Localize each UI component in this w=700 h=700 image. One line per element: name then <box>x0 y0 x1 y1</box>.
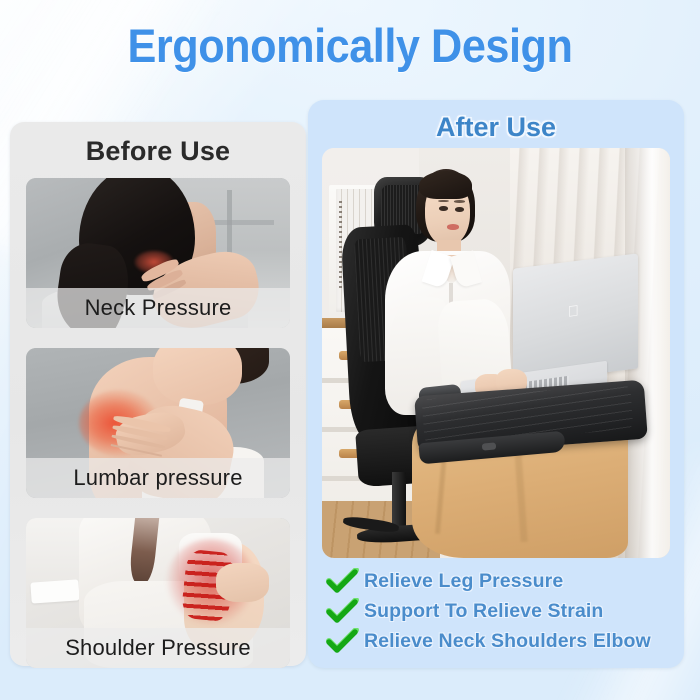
benefit-item: Relieve Leg Pressure <box>326 566 682 596</box>
benefit-item: Relieve Neck Shoulders Elbow <box>326 626 682 656</box>
apple-logo-icon:  <box>566 303 581 326</box>
before-use-panel: Before Use Neck Pressure <box>10 122 306 666</box>
before-item-neck: Neck Pressure <box>26 178 290 328</box>
before-item-caption: Neck Pressure <box>26 288 290 328</box>
check-icon <box>326 598 360 624</box>
after-use-photo:  <box>322 148 670 558</box>
check-icon <box>326 568 360 594</box>
benefits-list: Relieve Leg Pressure Support To Relieve … <box>326 566 682 656</box>
before-item-caption: Lumbar pressure <box>26 458 290 498</box>
benefit-label: Support To Relieve Strain <box>364 600 603 623</box>
before-item-lumbar: Lumbar pressure <box>26 348 290 498</box>
benefit-item: Support To Relieve Strain <box>326 596 682 626</box>
benefit-label: Relieve Leg Pressure <box>364 570 563 593</box>
before-item-shoulder: Shoulder Pressure <box>26 518 290 668</box>
after-use-heading: After Use <box>308 112 684 143</box>
before-use-heading: Before Use <box>10 136 306 167</box>
check-icon <box>326 628 360 654</box>
page-title: Ergonomically Design <box>28 18 672 74</box>
before-item-caption: Shoulder Pressure <box>26 628 290 668</box>
product-infographic: Ergonomically Design Before Use Neck Pre… <box>0 0 700 700</box>
benefit-label: Relieve Neck Shoulders Elbow <box>364 630 651 653</box>
